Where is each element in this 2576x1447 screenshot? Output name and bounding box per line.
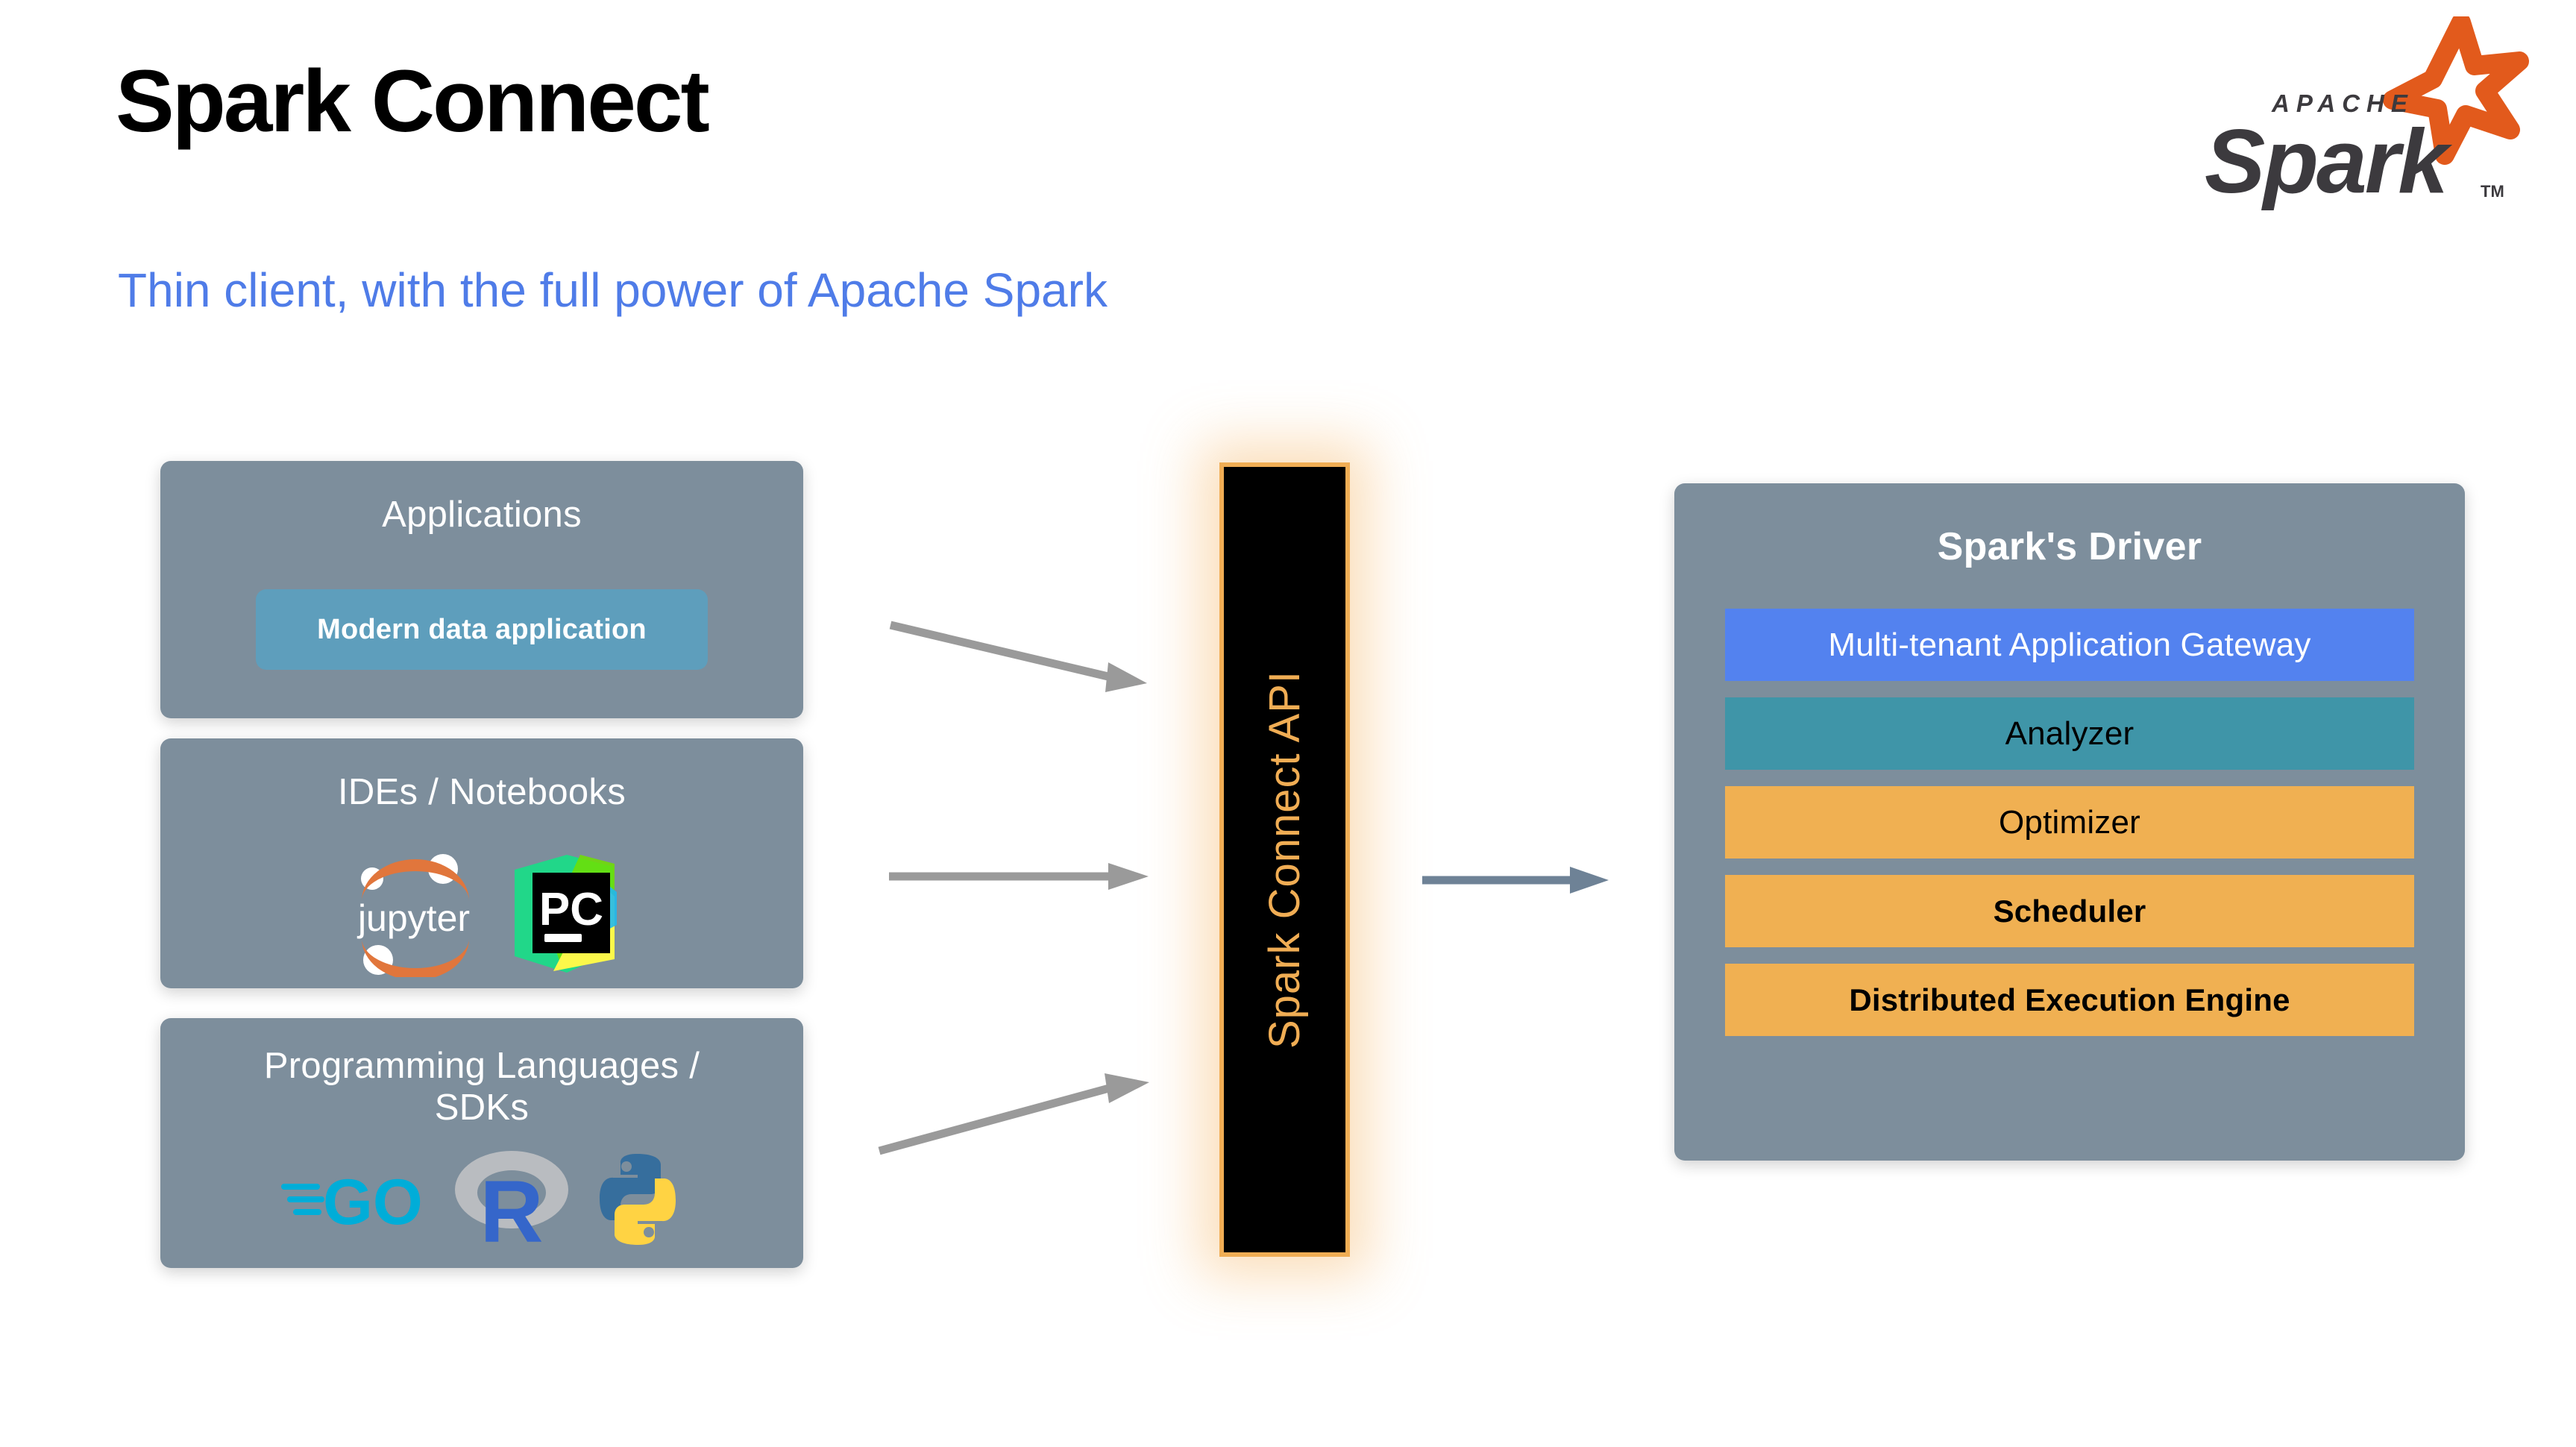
driver-row-execution-engine[interactable]: Distributed Execution Engine bbox=[1725, 964, 2414, 1036]
spark-connect-api-label: Spark Connect API bbox=[1260, 671, 1310, 1049]
driver-row-gateway-label: Multi-tenant Application Gateway bbox=[1828, 627, 2310, 664]
panel-applications: Applications Modern data application bbox=[160, 461, 803, 718]
driver-row-scheduler[interactable]: Scheduler bbox=[1725, 875, 2414, 947]
python-logo bbox=[591, 1151, 685, 1248]
driver-row-analyzer-label: Analyzer bbox=[2005, 715, 2134, 753]
page-title: Spark Connect bbox=[116, 56, 708, 148]
apache-spark-logo: APACHE Spark TM bbox=[2169, 16, 2542, 210]
driver-row-execution-engine-label: Distributed Execution Engine bbox=[1849, 982, 2290, 1018]
pycharm-pc-text: PC bbox=[538, 884, 603, 935]
panel-spark-driver: Spark's Driver Multi-tenant Application … bbox=[1674, 483, 2465, 1161]
driver-row-optimizer-label: Optimizer bbox=[1999, 804, 2140, 841]
ide-logo-row: jupyter PC bbox=[160, 850, 803, 977]
spark-wordmark: Spark bbox=[2205, 110, 2452, 210]
panel-programming-languages: Programming Languages / SDKs GO R bbox=[160, 1018, 803, 1268]
panel-applications-title: Applications bbox=[160, 494, 803, 536]
panel-ides-title: IDEs / Notebooks bbox=[160, 771, 803, 813]
go-logo: GO bbox=[280, 1158, 433, 1240]
modern-data-application-box[interactable]: Modern data application bbox=[256, 589, 708, 670]
trademark-mark: TM bbox=[2481, 182, 2504, 201]
spark-connect-api-bar[interactable]: Spark Connect API bbox=[1219, 462, 1350, 1257]
driver-component-list: Multi-tenant Application Gateway Analyze… bbox=[1725, 609, 2414, 1036]
arrow-ides-to-api bbox=[888, 854, 1156, 899]
page-subtitle: Thin client, with the full power of Apac… bbox=[118, 263, 1108, 318]
driver-row-gateway[interactable]: Multi-tenant Application Gateway bbox=[1725, 609, 2414, 681]
panel-languages-title-line2: SDKs bbox=[435, 1087, 529, 1128]
modern-data-application-label: Modern data application bbox=[317, 614, 647, 646]
jupyter-wordmark: jupyter bbox=[356, 897, 469, 939]
arrow-api-to-driver bbox=[1421, 858, 1615, 903]
pycharm-logo: PC bbox=[509, 853, 619, 974]
r-letter: R bbox=[480, 1163, 543, 1252]
driver-row-scheduler-label: Scheduler bbox=[1994, 894, 2146, 929]
slide-canvas: Spark Connect Thin client, with the full… bbox=[0, 0, 2576, 1447]
driver-row-analyzer[interactable]: Analyzer bbox=[1725, 697, 2414, 770]
panel-languages-title-line1: Programming Languages / bbox=[264, 1046, 700, 1086]
go-wordmark: GO bbox=[323, 1167, 423, 1238]
arrow-applications-to-api bbox=[888, 619, 1156, 709]
jupyter-logo: jupyter bbox=[345, 850, 483, 977]
panel-ides-notebooks: IDEs / Notebooks jupyter PC bbox=[160, 738, 803, 988]
panel-languages-title: Programming Languages / SDKs bbox=[160, 1045, 803, 1129]
arrow-languages-to-api bbox=[876, 1063, 1160, 1160]
language-logo-row: GO R bbox=[160, 1143, 803, 1255]
r-logo: R bbox=[452, 1146, 571, 1252]
driver-row-optimizer[interactable]: Optimizer bbox=[1725, 786, 2414, 859]
panel-driver-title: Spark's Driver bbox=[1674, 525, 2465, 570]
